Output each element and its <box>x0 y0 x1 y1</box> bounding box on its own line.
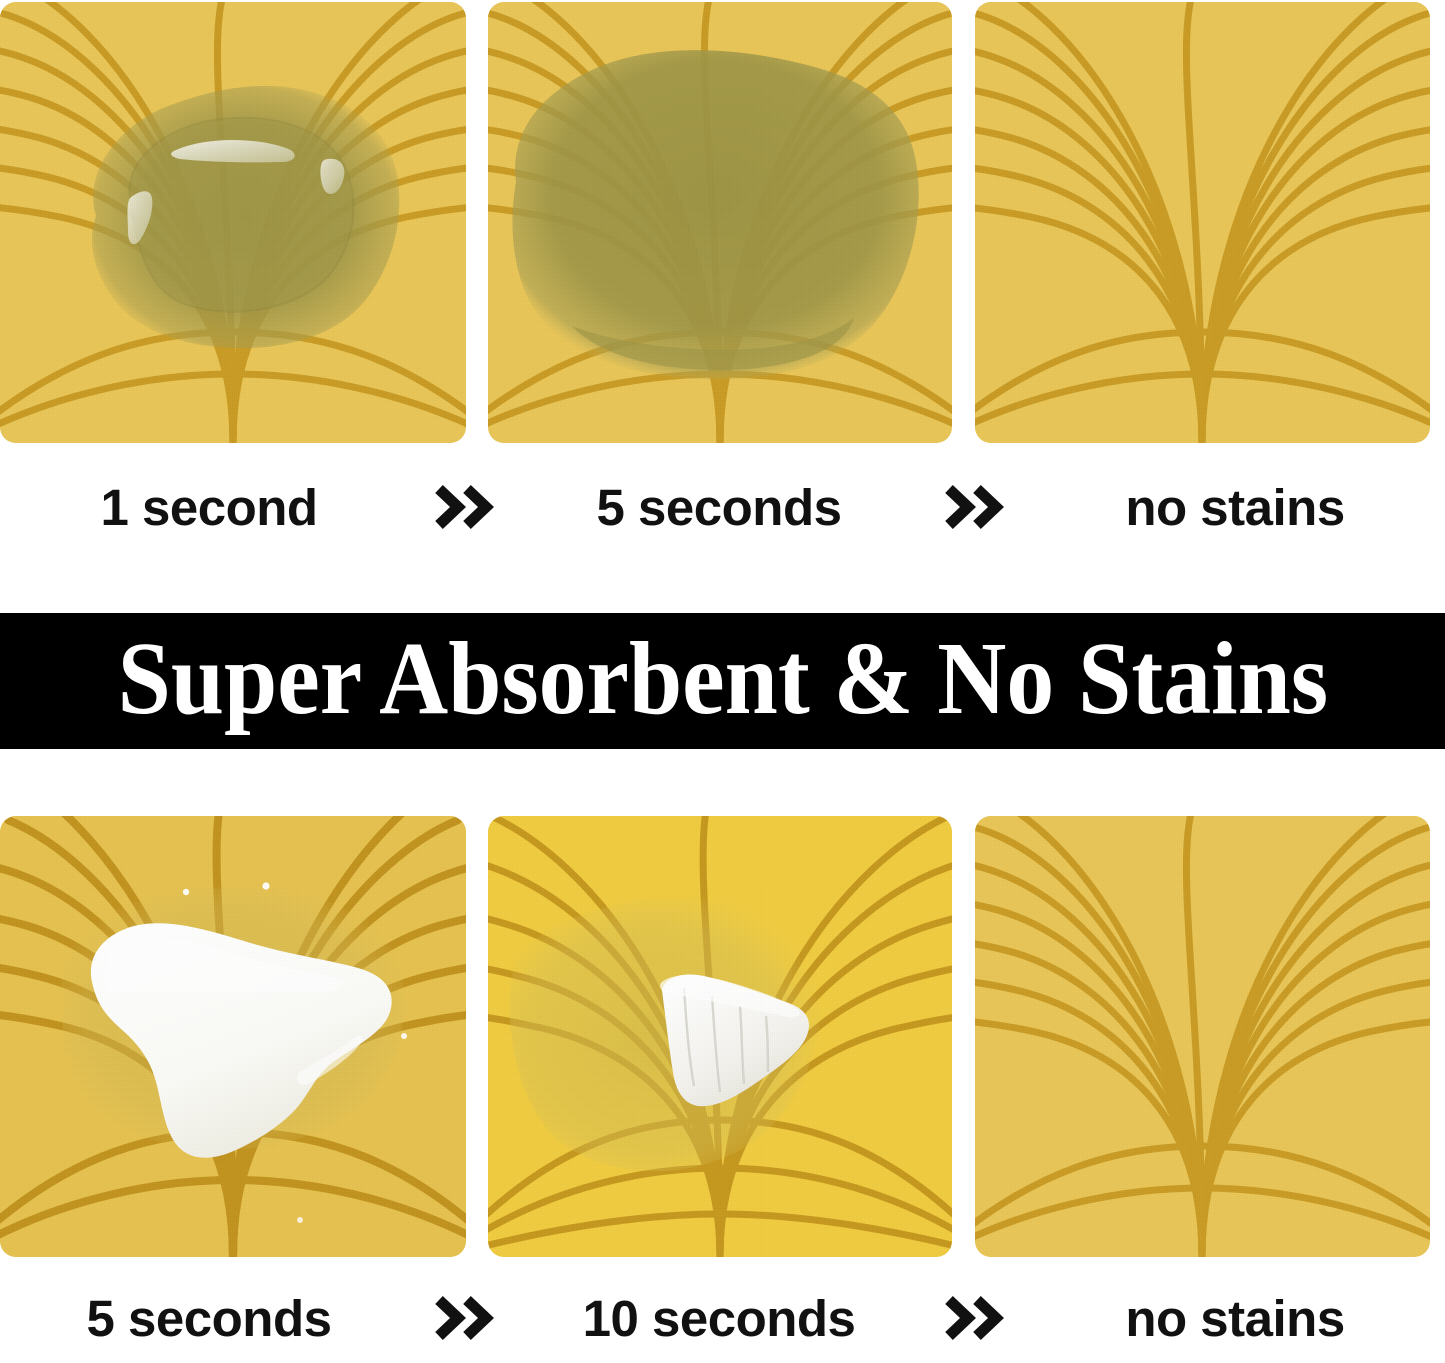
mat-pattern-art <box>488 816 952 1257</box>
mat-pattern-art <box>975 2 1430 443</box>
caption-5-seconds: 5 seconds <box>510 478 928 537</box>
caption-no-stains-b: no stains <box>1020 1289 1445 1348</box>
caption-1-second: 1 second <box>0 478 418 537</box>
mat-pattern-art <box>488 2 952 443</box>
tile-water-clean <box>975 2 1430 443</box>
tile-milk-10s <box>488 816 952 1257</box>
headline-text: Super Absorbent & No Stains <box>117 627 1327 735</box>
double-chevron-right-icon <box>418 483 510 531</box>
product-feature-infographic: 1 second 5 seconds no stains Super Absor… <box>0 0 1445 1353</box>
tile-milk-5s <box>0 816 466 1257</box>
water-absorption-image-row <box>0 2 1445 443</box>
double-chevron-right-icon <box>928 1294 1020 1342</box>
caption-10-seconds: 10 seconds <box>510 1289 928 1348</box>
water-absorption-caption-row: 1 second 5 seconds no stains <box>0 462 1445 552</box>
milk-absorption-image-row <box>0 816 1445 1257</box>
milk-absorption-caption-row: 5 seconds 10 seconds no stains <box>0 1273 1445 1363</box>
tile-milk-clean <box>975 816 1430 1257</box>
mat-pattern-art <box>0 2 466 443</box>
tile-water-1s <box>0 2 466 443</box>
double-chevron-right-icon <box>418 1294 510 1342</box>
mat-pattern-art <box>0 816 466 1257</box>
caption-5-seconds-b: 5 seconds <box>0 1289 418 1348</box>
tile-water-5s <box>488 2 952 443</box>
double-chevron-right-icon <box>928 483 1020 531</box>
headline-banner: Super Absorbent & No Stains <box>0 613 1445 749</box>
mat-pattern-art <box>975 816 1430 1257</box>
caption-no-stains: no stains <box>1020 478 1445 537</box>
